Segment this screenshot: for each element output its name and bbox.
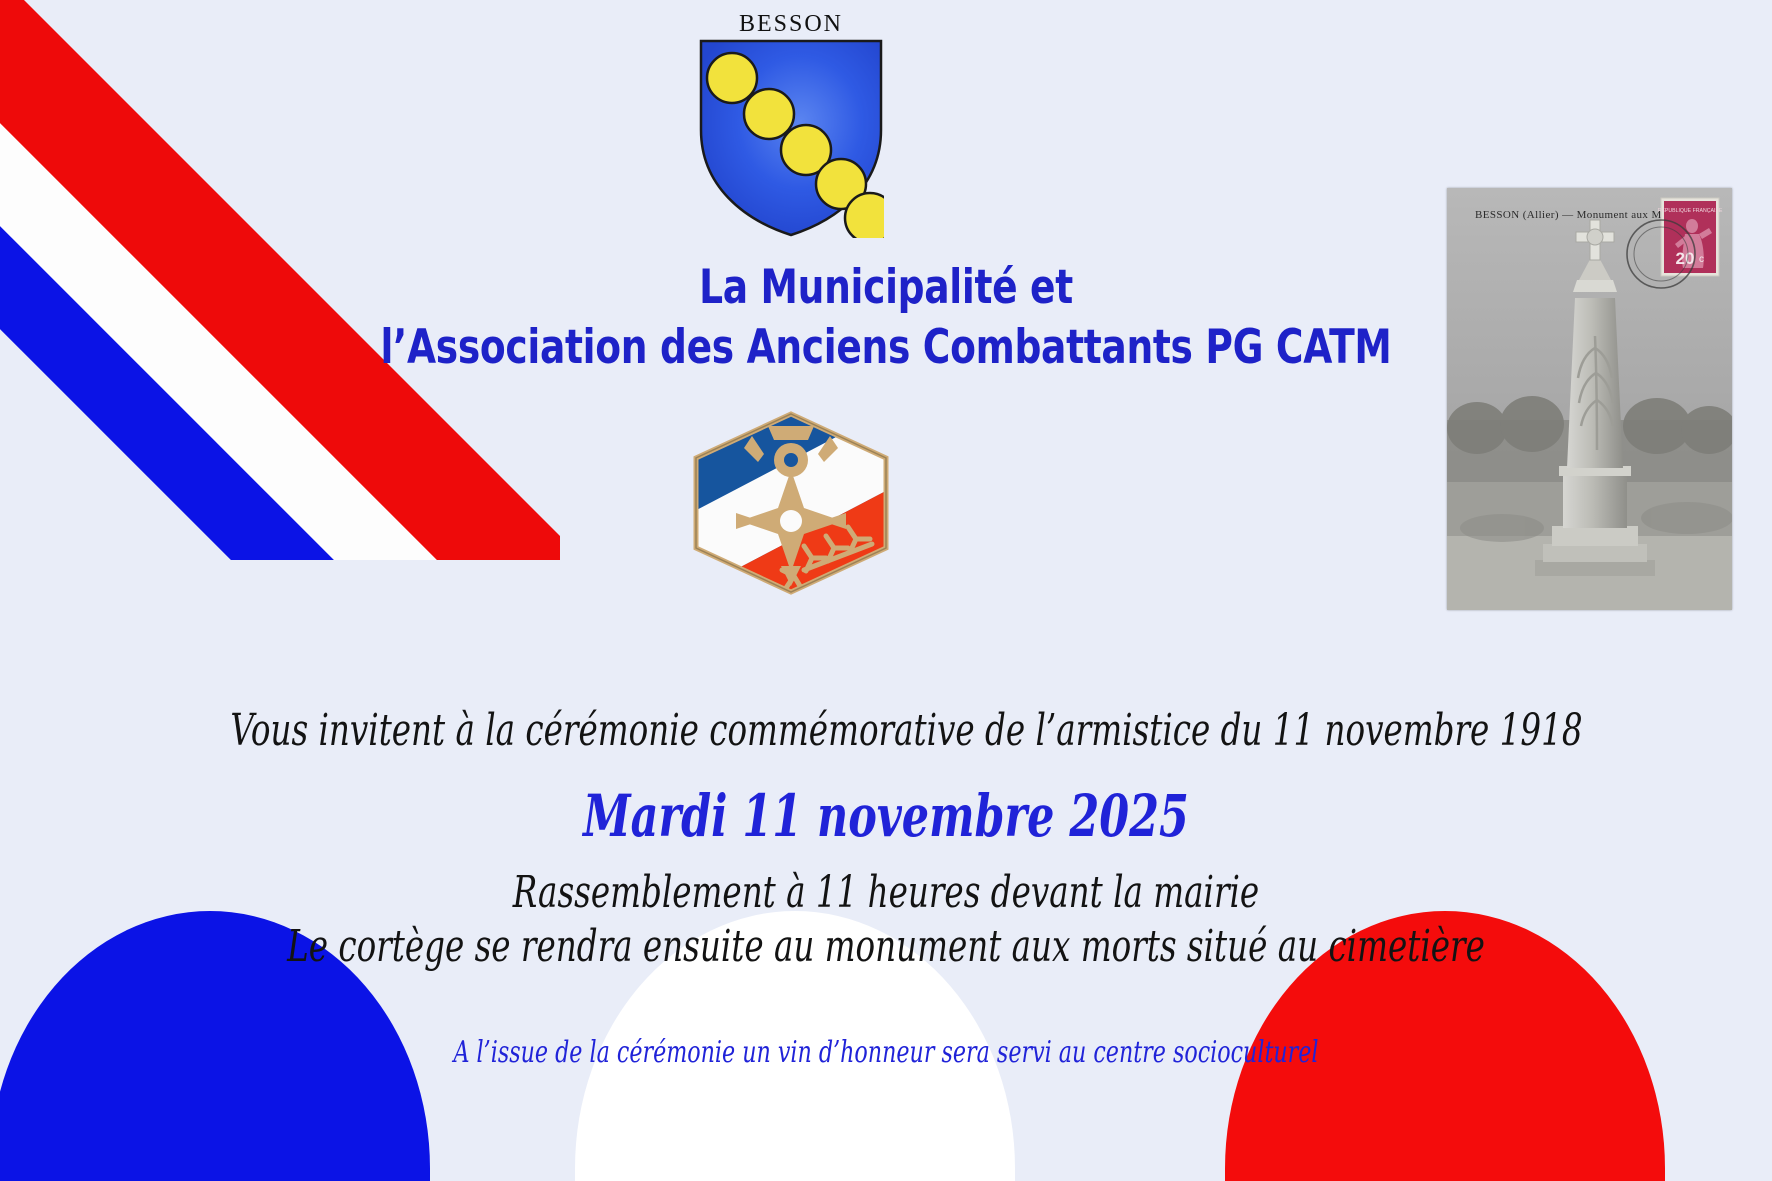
svg-text:REPUBLIQUE FRANÇAISE: REPUBLIQUE FRANÇAISE [1658, 208, 1723, 214]
svg-text:20: 20 [1676, 249, 1695, 268]
shield-icon [698, 38, 884, 238]
invitation-text: Vous invitent à la cérémonie commémorati… [230, 705, 1541, 756]
besson-coat-of-arms: Besson [686, 4, 896, 238]
meeting-line-2: Le cortège se rendra ensuite au monument… [230, 920, 1541, 974]
reception-note: A l’issue de la cérémonie un vin d’honne… [230, 1035, 1541, 1070]
monument-postcard-photo: BESSON (Allier) — Monument aux Morts REP… [1447, 188, 1732, 610]
svg-text:c: c [1699, 254, 1704, 265]
title-line-2: l’Association des Anciens Combattants PG… [177, 318, 1595, 378]
title-line-1: La Municipalité et [177, 258, 1595, 318]
commune-name-label: Besson [686, 4, 896, 38]
meeting-details: Rassemblement à 11 heures devant la mair… [230, 866, 1541, 973]
hexagon-badge-icon [686, 408, 896, 598]
meeting-line-1: Rassemblement à 11 heures devant la mair… [230, 866, 1541, 920]
commemoration-invitation-poster: Besson La Municipalité et l’Association … [0, 0, 1772, 1181]
page-title: La Municipalité et l’Association des Anc… [177, 258, 1595, 378]
pg-catm-badge [686, 408, 896, 603]
postcard-image: BESSON (Allier) — Monument aux Morts REP… [1447, 188, 1732, 610]
event-date: Mardi 11 novembre 2025 [230, 782, 1541, 850]
postcard-caption: BESSON (Allier) — Monument aux Morts [1475, 209, 1680, 221]
